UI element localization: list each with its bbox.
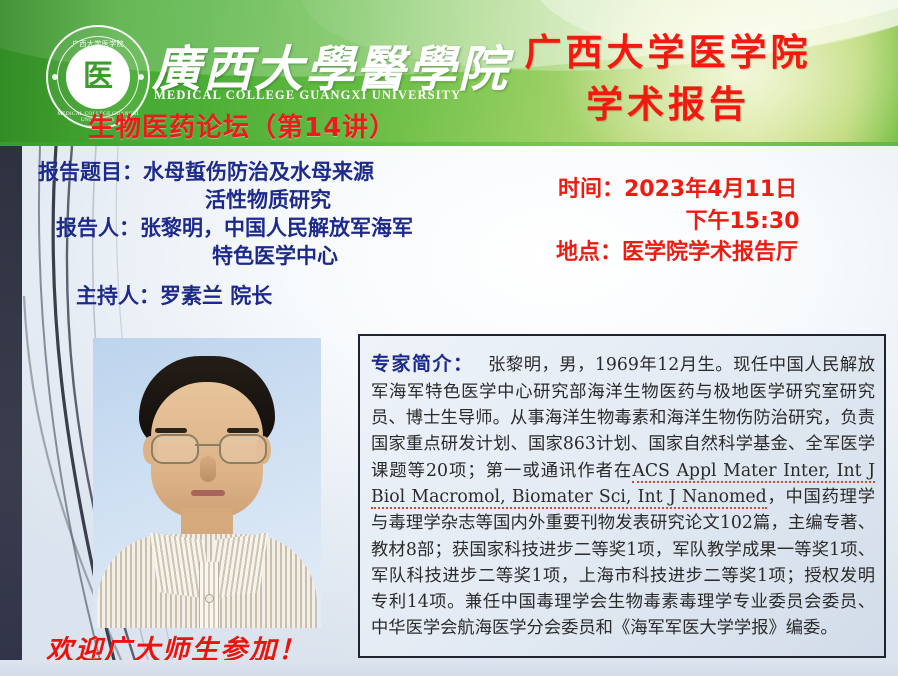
photo-mouth bbox=[191, 490, 225, 496]
event-date-line: 时间：2023年4月11日 bbox=[548, 174, 893, 206]
speaker-line: 报告人：张黎明，中国人民解放军海军 bbox=[30, 214, 550, 242]
host-line: 主持人：罗素兰 院长 bbox=[30, 282, 550, 310]
left-accent-bar bbox=[0, 146, 22, 676]
talk-title-line: 报告题目：水母蜇伤防治及水母来源 bbox=[30, 158, 550, 186]
talk-details-right: 时间：2023年4月11日 下午15:30 地点：医学院学术报告厅 bbox=[548, 174, 893, 269]
poster-header: 广西大学医学院 医 2016 MEDICAL COLLEGE GUANGXI U… bbox=[0, 0, 898, 146]
speaker-bio-box: 专家简介：张黎明，男，1969年12月生。现任中国人民解放军海军特色医学中心研究… bbox=[358, 334, 886, 658]
speaker-photo bbox=[93, 338, 321, 628]
poster-title-line2: 学术报告 bbox=[438, 74, 898, 128]
talk-details-left: 报告题目：水母蜇伤防治及水母来源 活性物质研究 报告人：张黎明，中国人民解放军海… bbox=[30, 158, 550, 310]
bottom-strip bbox=[0, 660, 898, 676]
logo-year: 2016 bbox=[46, 97, 150, 107]
photo-lens-left bbox=[151, 434, 199, 464]
university-name-en: MEDICAL COLLEGE GUANGXI UNIVERSITY bbox=[154, 88, 461, 103]
logo-dot-right bbox=[138, 74, 144, 80]
bio-heading: 专家简介： bbox=[371, 353, 474, 375]
photo-lens-right bbox=[219, 434, 267, 464]
header-bottom-rule bbox=[0, 142, 898, 146]
event-time-line: 下午15:30 bbox=[548, 206, 893, 238]
photo-nose bbox=[200, 456, 216, 482]
logo-dot-left bbox=[52, 74, 58, 80]
talk-title-line-cont: 活性物质研究 bbox=[30, 186, 550, 214]
photo-brow-left bbox=[155, 428, 187, 433]
forum-series-label: 生物医药论坛（第14讲） bbox=[88, 107, 396, 144]
speaker-bio-text: 专家简介：张黎明，男，1969年12月生。现任中国人民解放军海军特色医学中心研究… bbox=[371, 350, 875, 642]
seminar-poster: 广西大学医学院 医 2016 MEDICAL COLLEGE GUANGXI U… bbox=[0, 0, 898, 676]
photo-shirt-button bbox=[205, 594, 214, 603]
poster-title-line1: 广西大学医学院 bbox=[438, 22, 898, 76]
photo-brow-right bbox=[227, 428, 259, 433]
bio-body-part2: ，中国药理学与毒理学杂志等国内外重要刊物发表研究论文102篇，主编专著、教材8部… bbox=[371, 487, 875, 638]
event-location-line: 地点：医学院学术报告厅 bbox=[548, 237, 893, 269]
speaker-affiliation-line: 特色医学中心 bbox=[30, 242, 550, 270]
photo-glasses-bridge bbox=[195, 444, 219, 446]
